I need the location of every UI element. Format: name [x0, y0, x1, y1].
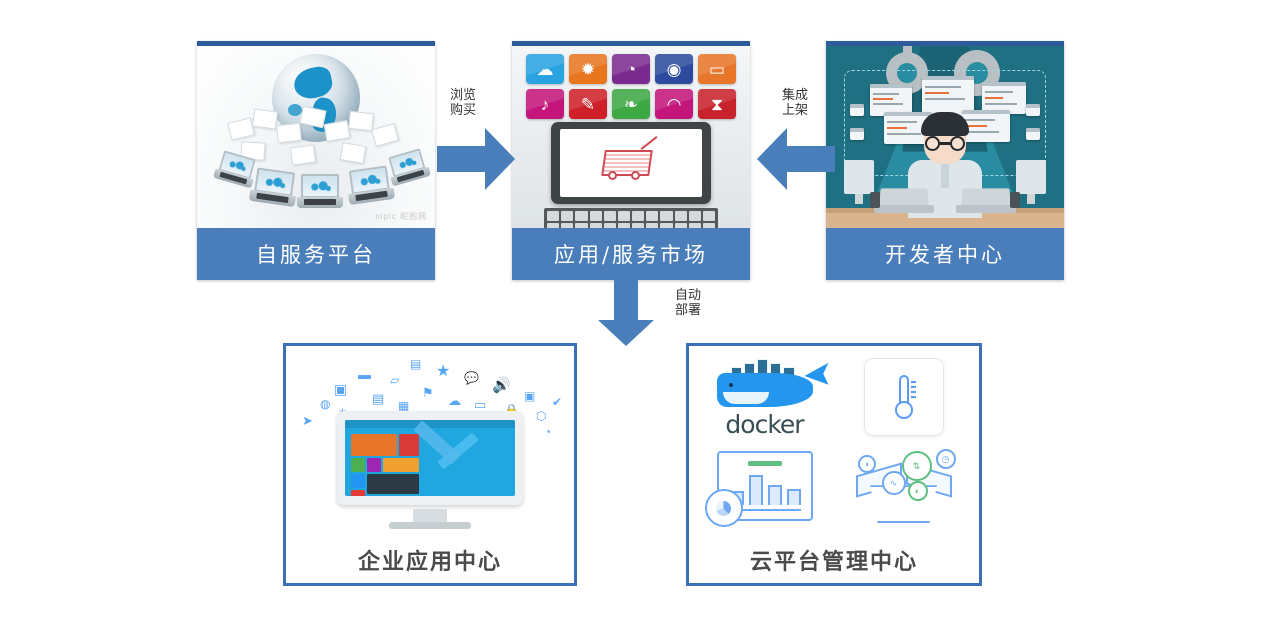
- laptop-icon: [297, 174, 343, 208]
- app-cloud-icon: ◍: [320, 398, 330, 410]
- app-cloud-icon: ▤: [410, 358, 421, 370]
- teapot-tile[interactable]: ◠: [655, 89, 693, 119]
- thermometer-cell: [834, 352, 973, 442]
- app-cloud-icon: ◔: [544, 426, 551, 438]
- start-tile: [351, 434, 397, 456]
- monitor-icon: [1016, 160, 1046, 206]
- start-tile: [351, 458, 365, 472]
- start-tile: [351, 490, 365, 496]
- node-label-enterprise-app-center: 企业应用中心: [286, 537, 574, 583]
- weather-tile[interactable]: ☁: [526, 54, 564, 84]
- cup-icon: [870, 192, 880, 208]
- node-cloud-platform-center[interactable]: docker: [686, 343, 982, 586]
- app-cloud-icon: ⬡: [536, 410, 546, 422]
- pen-tile[interactable]: ✎: [569, 89, 607, 119]
- app-cloud-icon: ▣: [334, 382, 347, 396]
- app-cloud-icon: ✔: [552, 396, 562, 408]
- app-cloud-icon: 💬: [464, 372, 479, 384]
- tablet-device: [551, 122, 711, 204]
- node-enterprise-app-center[interactable]: ➤ ◍ ✶ ▣ 🔧 ▬ ▤ △ ▱ ▦ ☺ ▤ ⚑ ⌂ ★ ☁ ◉ 💬 ▭ ◯: [283, 343, 577, 586]
- openbox-cell: ◑ ∿ ⇅ ◐ ◷: [834, 442, 973, 532]
- app-cloud-icon: ▱: [390, 374, 399, 386]
- hourglass-tile[interactable]: ⧗: [698, 89, 736, 119]
- arrow-auto-deploy: [598, 280, 654, 346]
- laptop-icon: [956, 188, 1016, 214]
- webcam-tile[interactable]: ◉: [655, 54, 693, 84]
- leaf-tile[interactable]: ❧: [612, 89, 650, 119]
- node-label-app-market: 应用/服务市场: [512, 228, 750, 280]
- shopping-cart-icon: [603, 146, 659, 180]
- laptop-icon: [249, 167, 299, 207]
- node-block: [850, 128, 864, 140]
- app-cloud-icon: ☁: [448, 394, 461, 407]
- arrow-integrate-publish: [757, 128, 835, 190]
- badge-transfer-icon: ⇅: [902, 451, 932, 481]
- keyboard: [544, 208, 718, 228]
- cloud-platform-illustration: docker: [689, 346, 979, 537]
- node-label-developer-center: 开发者中心: [826, 228, 1064, 280]
- app-cloud-icon: ▤: [372, 392, 384, 405]
- node-label-cloud-platform-center: 云平台管理中心: [689, 537, 979, 583]
- thermometer-icon: [895, 375, 913, 419]
- start-tile: [367, 458, 381, 472]
- badge-pause-icon: ◑: [858, 455, 876, 473]
- node-self-service-platform[interactable]: nipic 昵图网 自服务平台: [197, 41, 435, 280]
- open-box-icon: ◑ ∿ ⇅ ◐ ◷: [856, 449, 952, 523]
- start-tile: [367, 474, 419, 494]
- app-cloud-icon: 🔊: [492, 378, 511, 393]
- start-tile: [351, 474, 365, 488]
- app-cloud-icon: ➤: [302, 414, 313, 427]
- badge-clock-icon: ◷: [936, 449, 956, 469]
- developer-illustration: [826, 46, 1064, 228]
- start-tile: [383, 458, 419, 472]
- music-tile[interactable]: ♪: [526, 89, 564, 119]
- arrow-browse-purchase: [437, 128, 515, 190]
- chart-cell: [695, 442, 834, 532]
- app-market-illustration: ☁ ✹ ◔ ◉ ▭ ♪ ✎ ❧ ◠ ⧗: [512, 46, 750, 228]
- app-cloud-icon: ▣: [524, 390, 535, 402]
- app-cloud-icon: ⚑: [422, 386, 434, 399]
- self-service-illustration: nipic 昵图网: [197, 46, 435, 228]
- node-block: [1026, 128, 1040, 140]
- diagram-canvas: nipic 昵图网 自服务平台 ☁ ✹ ◔ ◉ ▭ ♪ ✎ ❧ ◠ ⧗: [0, 0, 1268, 634]
- app-cloud-icon: ▬: [358, 368, 371, 381]
- compass-tile[interactable]: ◔: [612, 54, 650, 84]
- app-cloud-icon: ★: [436, 364, 450, 380]
- bar-chart-dashboard-icon: [717, 451, 813, 521]
- cup-icon: [1010, 192, 1020, 208]
- node-developer-center[interactable]: 开发者中心: [826, 41, 1064, 280]
- start-tile: [399, 434, 419, 456]
- docker-logo: docker: [711, 359, 819, 435]
- enterprise-app-illustration: ➤ ◍ ✶ ▣ 🔧 ▬ ▤ △ ▱ ▦ ☺ ▤ ⚑ ⌂ ★ ☁ ◉ 💬 ▭ ◯: [286, 346, 574, 537]
- arrow-label-integrate-publish: 集成 上架: [773, 88, 817, 118]
- badge-activity-icon: ∿: [882, 471, 906, 495]
- arrow-label-browse-purchase: 浏览 购买: [441, 88, 485, 118]
- pie-chart-icon: [705, 489, 743, 527]
- node-app-service-market[interactable]: ☁ ✹ ◔ ◉ ▭ ♪ ✎ ❧ ◠ ⧗: [512, 41, 750, 280]
- chat-tile[interactable]: ▭: [698, 54, 736, 84]
- node-label-self-service: 自服务平台: [197, 228, 435, 280]
- globe-tile[interactable]: ✹: [569, 54, 607, 84]
- app-tile-grid: ☁ ✹ ◔ ◉ ▭ ♪ ✎ ❧ ◠ ⧗: [526, 54, 736, 119]
- arrow-label-auto-deploy: 自动 部署: [666, 288, 710, 318]
- docker-cell: docker: [695, 352, 834, 442]
- watermark: nipic 昵图网: [375, 211, 427, 222]
- app-cloud-icon: ▭: [474, 398, 486, 411]
- docker-wordmark: docker: [711, 410, 819, 439]
- node-block: [1026, 104, 1040, 116]
- badge-status-icon: ◐: [908, 481, 928, 501]
- node-block: [850, 104, 864, 116]
- desktop-monitor: [337, 411, 523, 529]
- laptop-icon: [874, 188, 934, 214]
